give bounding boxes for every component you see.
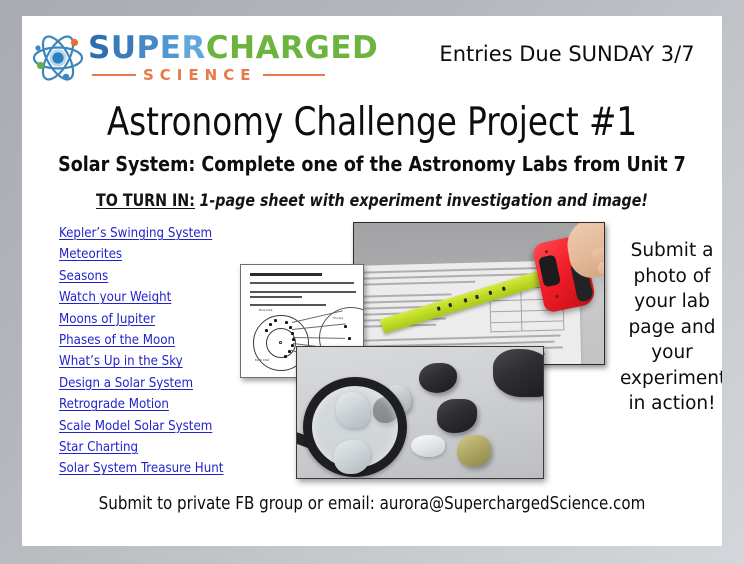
glass-sample xyxy=(411,435,445,457)
large-meteorite-rock xyxy=(493,349,544,397)
submit-photo-callout: Submit a photo of your lab page and your… xyxy=(620,238,722,417)
worksheet-heading xyxy=(250,273,322,276)
magnifier-lens xyxy=(303,377,407,477)
olivine-rock xyxy=(457,435,491,467)
footer-contact-text: Submit to private FB group or email: aur… xyxy=(36,492,708,516)
tape-slot xyxy=(538,254,561,287)
magnified-mineral-upper xyxy=(336,392,370,428)
rock-samples-magnifier-photo xyxy=(296,346,544,479)
magnified-mineral-lower xyxy=(334,440,370,474)
photo-collage: The Sky Mars Orbit Earth Orbit xyxy=(22,16,722,546)
slide-background: SUPERCHARGED SCIENCE Entries Due SUNDAY … xyxy=(0,0,744,564)
presentation-slide: SUPERCHARGED SCIENCE Entries Due SUNDAY … xyxy=(22,16,722,546)
tape-measure-on-worksheet-photo xyxy=(353,222,605,365)
